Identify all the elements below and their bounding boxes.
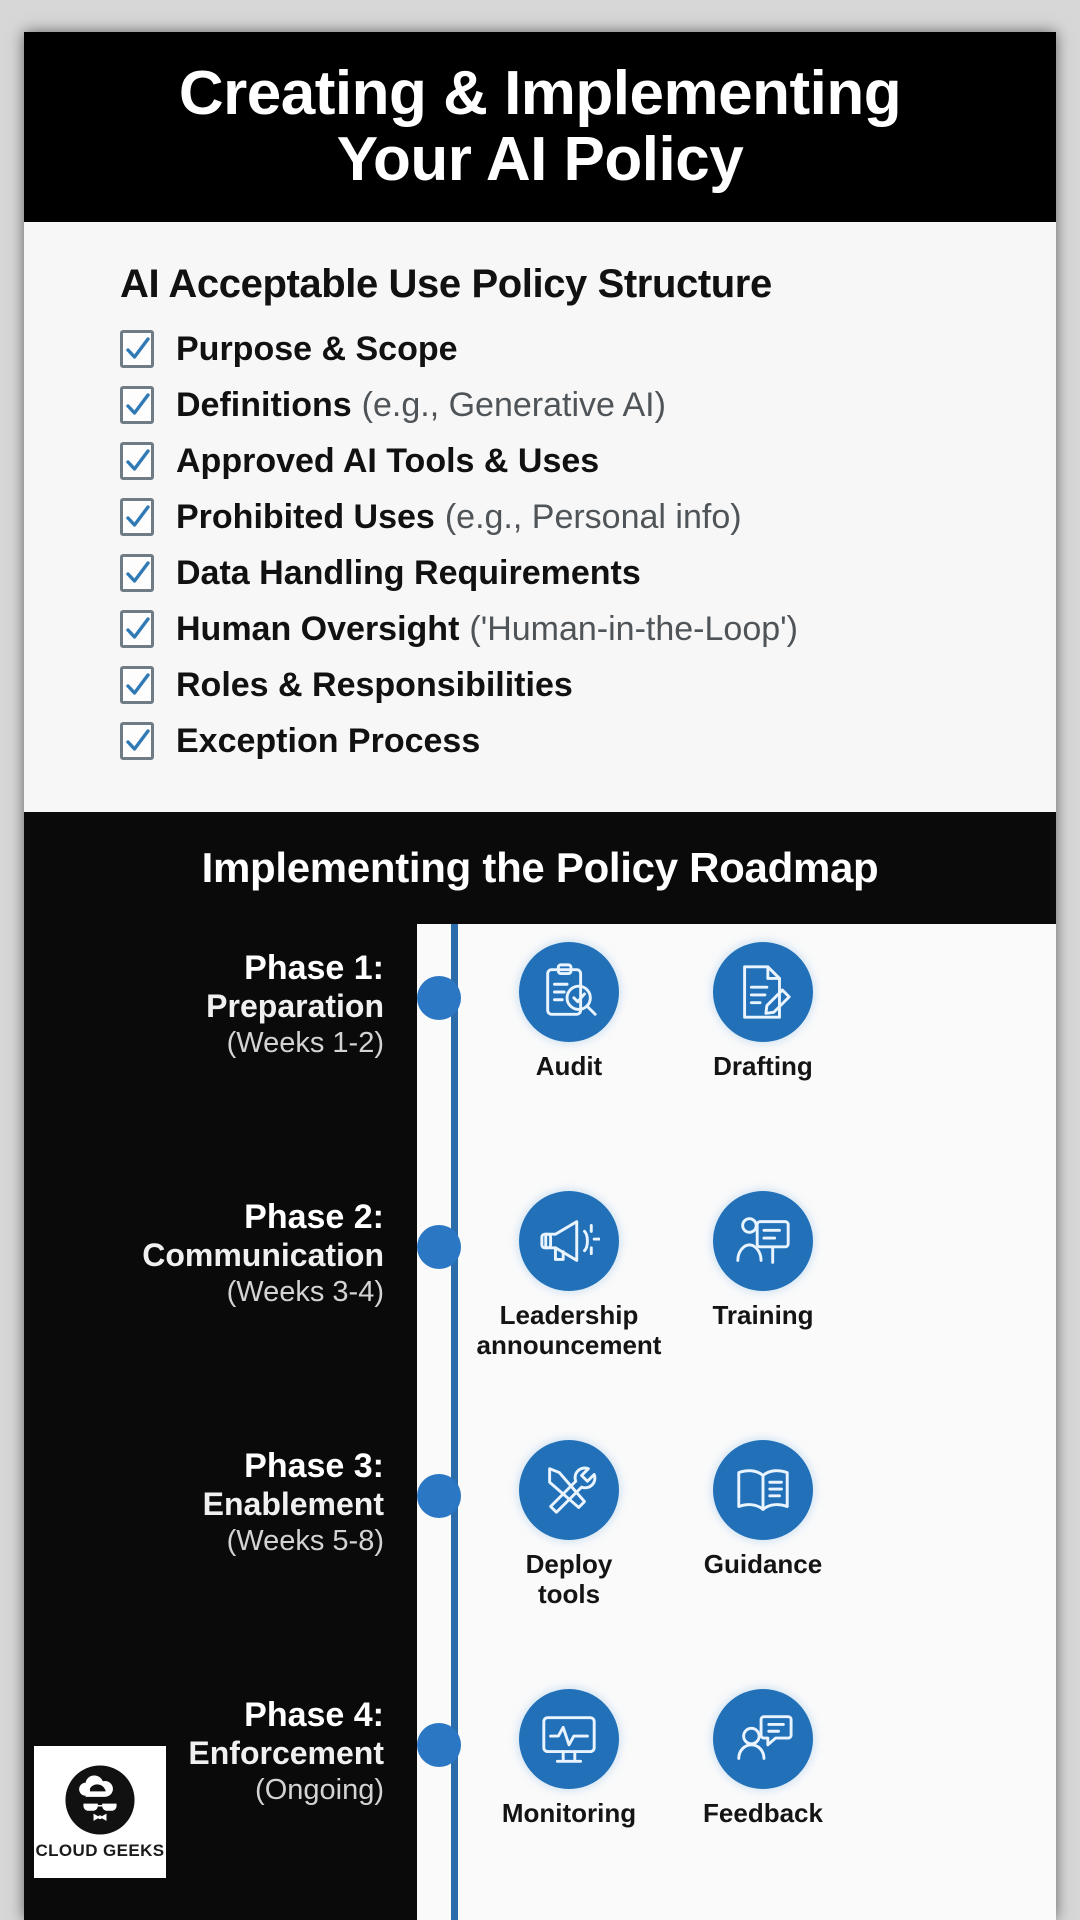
phase-name: Enablement <box>24 1486 384 1524</box>
brand-logo-text: CLOUD GEEKS <box>35 1841 164 1861</box>
open-book-icon[interactable] <box>713 1440 813 1540</box>
roadmap-section: Implementing the Policy Roadmap Phase 1:… <box>24 812 1056 1920</box>
phase-icon-label: Monitoring <box>502 1799 636 1829</box>
list-item-note: (e.g., Personal info) <box>445 498 742 537</box>
roadmap-body: Phase 1:Preparation(Weeks 1-2)AuditDraft… <box>24 924 1056 1920</box>
timeline-dot <box>417 1225 461 1269</box>
phase-number: Phase 4: <box>24 1695 384 1735</box>
list-item: Data Handling Requirements <box>120 545 1056 601</box>
phase-timeline-cell: AuditDrafting <box>402 924 1056 1173</box>
phase-icon-label: Drafting <box>713 1052 813 1082</box>
phase-icon-cell[interactable]: Audit <box>494 942 644 1082</box>
phase-icon-label: Audit <box>536 1052 602 1082</box>
checkbox-checked-icon[interactable] <box>120 498 154 536</box>
header-banner: Creating & Implementing Your AI Policy <box>24 32 1056 222</box>
phase-icon-cell[interactable]: Feedback <box>688 1689 838 1829</box>
check-mark-icon <box>125 392 151 420</box>
check-mark-icon <box>125 616 151 644</box>
phase-weeks: (Weeks 1-2) <box>24 1026 384 1061</box>
clipboard-magnifier-icon[interactable] <box>519 942 619 1042</box>
phase-label: Phase 3:Enablement(Weeks 5-8) <box>24 1422 402 1559</box>
list-item-label: Definitions <box>176 386 352 425</box>
phase-icon-label: Feedback <box>703 1799 823 1829</box>
list-item-note: (e.g., Generative AI) <box>362 386 666 425</box>
phase-row: Phase 2:Communication(Weeks 3-4)Leadersh… <box>24 1173 1056 1422</box>
checkbox-checked-icon[interactable] <box>120 666 154 704</box>
list-item: Roles & Responsibilities <box>120 657 1056 713</box>
phase-name: Preparation <box>24 988 384 1026</box>
phase-timeline-cell: Deploy toolsGuidance <box>402 1422 1056 1671</box>
phase-icon-label: Guidance <box>704 1550 822 1580</box>
phase-number: Phase 1: <box>24 948 384 988</box>
phase-row: Phase 1:Preparation(Weeks 1-2)AuditDraft… <box>24 924 1056 1173</box>
phase-weeks: (Weeks 3-4) <box>24 1275 384 1310</box>
phase-timeline-cell: Leadership announcementTraining <box>402 1173 1056 1422</box>
phase-row: Phase 3:Enablement(Weeks 5-8)Deploy tool… <box>24 1422 1056 1671</box>
check-mark-icon <box>125 672 151 700</box>
phase-icon-group: Deploy toolsGuidance <box>494 1440 838 1610</box>
phase-icon-cell[interactable]: Leadership announcement <box>494 1191 644 1361</box>
phase-label: Phase 1:Preparation(Weeks 1-2) <box>24 924 402 1061</box>
phase-label: Phase 2:Communication(Weeks 3-4) <box>24 1173 402 1310</box>
checkbox-checked-icon[interactable] <box>120 554 154 592</box>
phase-rows: Phase 1:Preparation(Weeks 1-2)AuditDraft… <box>24 924 1056 1920</box>
phase-icon-cell[interactable]: Guidance <box>688 1440 838 1610</box>
phase-icon-group: AuditDrafting <box>494 942 838 1082</box>
list-item-label: Prohibited Uses <box>176 498 435 537</box>
timeline-dot <box>417 1474 461 1518</box>
policy-structure-list: Purpose & ScopeDefinitions(e.g., Generat… <box>24 321 1056 769</box>
policy-structure-section: AI Acceptable Use Policy Structure Purpo… <box>24 222 1056 812</box>
list-item: Prohibited Uses(e.g., Personal info) <box>120 489 1056 545</box>
check-mark-icon <box>125 504 151 532</box>
document-pencil-icon[interactable] <box>713 942 813 1042</box>
checkbox-checked-icon[interactable] <box>120 386 154 424</box>
list-item: Exception Process <box>120 713 1056 769</box>
list-item-label: Exception Process <box>176 722 480 761</box>
list-item: Approved AI Tools & Uses <box>120 433 1056 489</box>
phase-icon-label: Deploy tools <box>494 1550 644 1610</box>
phase-icon-cell[interactable]: Deploy tools <box>494 1440 644 1610</box>
list-item: Human Oversight('Human-in-the-Loop') <box>120 601 1056 657</box>
list-item-label: Approved AI Tools & Uses <box>176 442 599 481</box>
checkbox-checked-icon[interactable] <box>120 722 154 760</box>
timeline-dot <box>417 976 461 1020</box>
phase-name: Communication <box>24 1237 384 1275</box>
check-mark-icon <box>125 448 151 476</box>
infographic-card: Creating & Implementing Your AI Policy A… <box>24 32 1056 1920</box>
list-item-label: Human Oversight <box>176 610 459 649</box>
phase-row: Phase 4:Enforcement(Ongoing)MonitoringFe… <box>24 1671 1056 1920</box>
infographic-page: Creating & Implementing Your AI Policy A… <box>0 0 1080 1920</box>
presenter-board-icon[interactable] <box>713 1191 813 1291</box>
phase-weeks: (Weeks 5-8) <box>24 1524 384 1559</box>
phase-number: Phase 2: <box>24 1197 384 1237</box>
phase-icon-label: Training <box>712 1301 813 1331</box>
list-item-note: ('Human-in-the-Loop') <box>469 610 798 649</box>
check-mark-icon <box>125 728 151 756</box>
cloud-geek-face-icon <box>64 1764 136 1836</box>
phase-icon-cell[interactable]: Drafting <box>688 942 838 1082</box>
list-item-label: Roles & Responsibilities <box>176 666 573 705</box>
list-item-label: Data Handling Requirements <box>176 554 641 593</box>
roadmap-heading: Implementing the Policy Roadmap <box>24 844 1056 892</box>
check-mark-icon <box>125 336 151 364</box>
checkbox-checked-icon[interactable] <box>120 442 154 480</box>
person-speech-bubble-icon[interactable] <box>713 1689 813 1789</box>
phase-icon-label: Leadership announcement <box>477 1301 662 1361</box>
phase-icon-group: Leadership announcementTraining <box>494 1191 838 1361</box>
section-heading: AI Acceptable Use Policy Structure <box>120 262 1056 307</box>
phase-icon-group: MonitoringFeedback <box>494 1689 838 1829</box>
phase-icon-cell[interactable]: Monitoring <box>494 1689 644 1829</box>
list-item-label: Purpose & Scope <box>176 330 458 369</box>
page-title: Creating & Implementing Your AI Policy <box>149 61 931 192</box>
monitor-pulse-icon[interactable] <box>519 1689 619 1789</box>
screwdriver-wrench-icon[interactable] <box>519 1440 619 1540</box>
phase-number: Phase 3: <box>24 1446 384 1486</box>
list-item: Purpose & Scope <box>120 321 1056 377</box>
check-mark-icon <box>125 560 151 588</box>
list-item: Definitions(e.g., Generative AI) <box>120 377 1056 433</box>
phase-icon-cell[interactable]: Training <box>688 1191 838 1361</box>
phase-timeline-cell: MonitoringFeedback <box>402 1671 1056 1920</box>
checkbox-checked-icon[interactable] <box>120 330 154 368</box>
brand-logo-badge: CLOUD GEEKS <box>34 1746 166 1878</box>
timeline-dot <box>417 1723 461 1767</box>
megaphone-icon[interactable] <box>519 1191 619 1291</box>
checkbox-checked-icon[interactable] <box>120 610 154 648</box>
